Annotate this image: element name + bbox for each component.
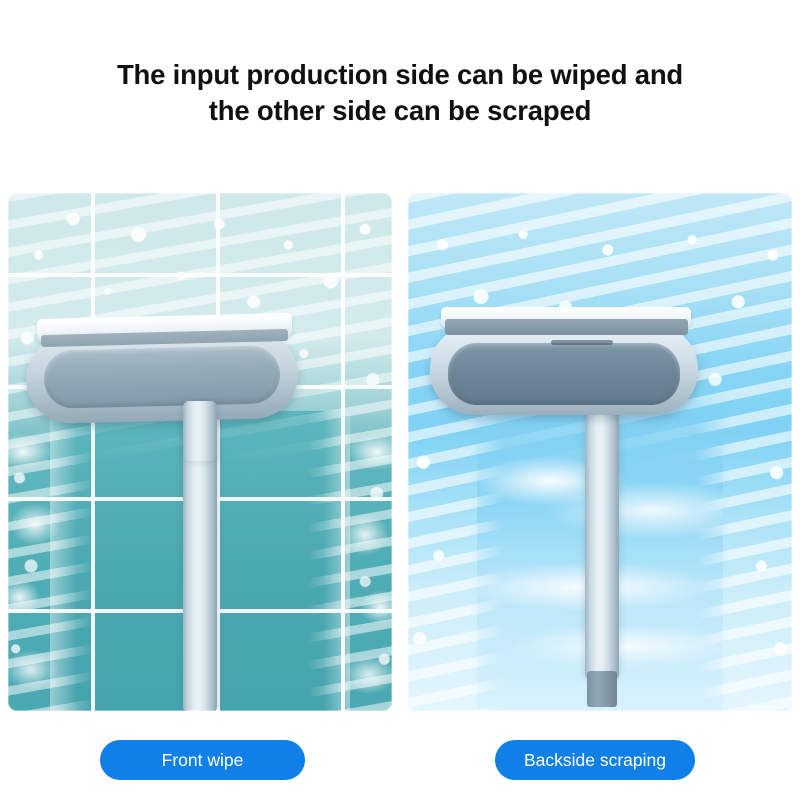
caption-pill-front-wipe[interactable]: Front wipe xyxy=(100,740,305,780)
page-title: The input production side can be wiped a… xyxy=(0,57,800,129)
soap-foam-texture xyxy=(408,193,792,711)
panel-front-wipe[interactable] xyxy=(8,193,392,711)
tile-grout-grid xyxy=(8,193,392,711)
product-feature-image: The input production side can be wiped a… xyxy=(0,0,800,800)
caption-pill-backside-scraping[interactable]: Backside scraping xyxy=(495,740,695,780)
panel-backside-scraping[interactable] xyxy=(408,193,792,711)
image-panel-row xyxy=(8,193,792,711)
